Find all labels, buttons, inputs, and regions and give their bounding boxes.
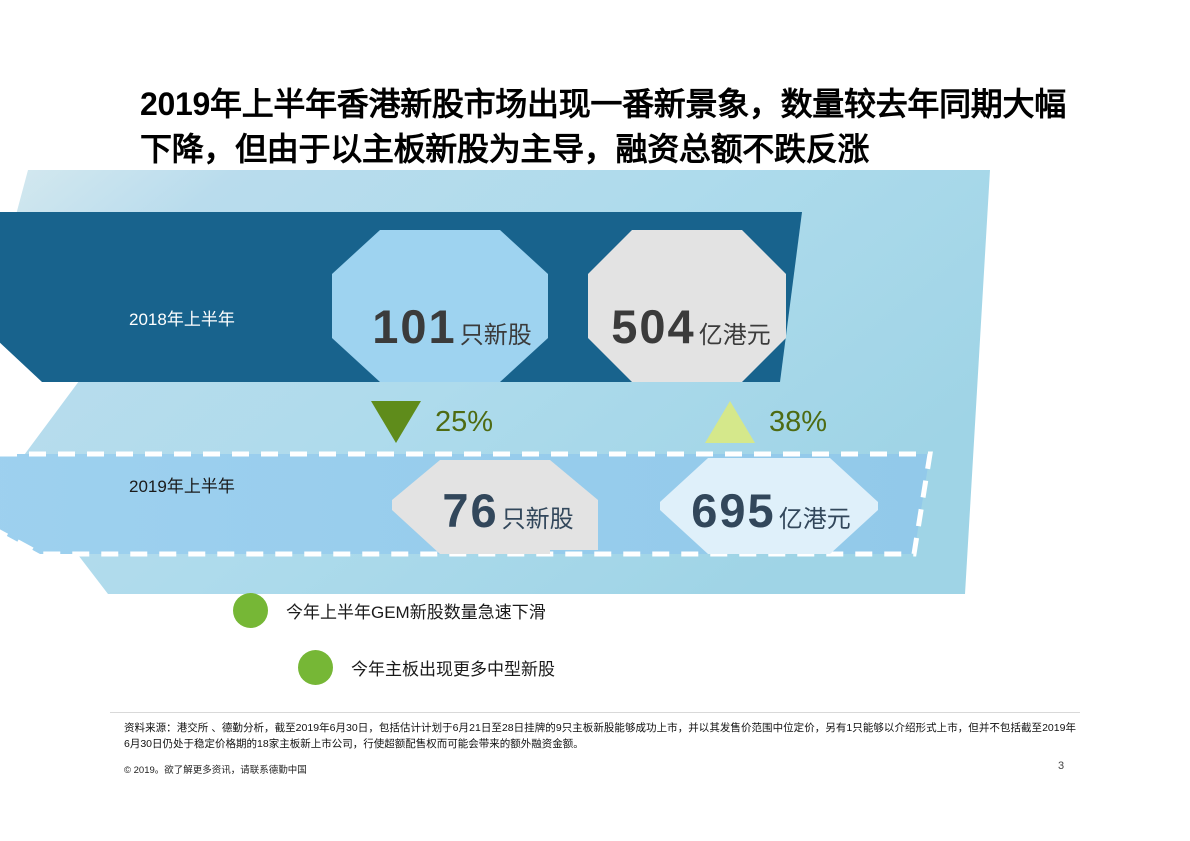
delta-ipo: 25% bbox=[371, 401, 493, 443]
metric-ipo-2019-unit: 只新股 bbox=[502, 508, 574, 532]
copyright-note: © 2019。欲了解更多资讯，请联系德勤中国 bbox=[124, 762, 307, 776]
metric-ipo-2019-value: 76 bbox=[442, 487, 498, 534]
infographic-graphics bbox=[0, 170, 1190, 610]
row-label-2019: 2019年上半年 bbox=[129, 472, 235, 497]
metric-ipo-2018-value: 101 bbox=[372, 303, 456, 350]
row-label-2018: 2018年上半年 bbox=[129, 305, 235, 330]
metric-funds-2019-unit: 亿港元 bbox=[779, 508, 851, 532]
metric-ipo-2018-unit: 只新股 bbox=[460, 324, 532, 348]
list-item-label: 今年主板出现更多中型新股 bbox=[351, 655, 555, 680]
triangle-up-icon bbox=[705, 401, 755, 443]
metric-funds-2019: 695 亿港元 bbox=[668, 487, 874, 537]
delta-ipo-pct: 25% bbox=[435, 408, 493, 437]
page-title: 2019年上半年香港新股市场出现一番新景象，数量较去年同期大幅下降，但由于以主板… bbox=[140, 82, 1080, 172]
list-item-label: 今年上半年GEM新股数量急速下滑 bbox=[286, 598, 546, 623]
bullet-dot-icon bbox=[298, 650, 333, 685]
metric-funds-2018: 504 亿港元 bbox=[598, 303, 784, 353]
triangle-down-icon bbox=[371, 401, 421, 443]
metric-funds-2018-value: 504 bbox=[611, 303, 695, 350]
metric-ipo-2019: 76 只新股 bbox=[418, 487, 598, 537]
footer-divider bbox=[110, 712, 1080, 713]
list-item: 今年上半年GEM新股数量急速下滑 bbox=[233, 593, 546, 628]
infographic-stage: 2018年上半年 2019年上半年 101 只新股 504 亿港元 76 只新股… bbox=[0, 170, 1190, 610]
page-number: 3 bbox=[1058, 760, 1064, 772]
slide: 2019年上半年香港新股市场出现一番新景象，数量较去年同期大幅下降，但由于以主板… bbox=[0, 0, 1190, 841]
metric-ipo-2018: 101 只新股 bbox=[352, 303, 552, 353]
metric-funds-2018-unit: 亿港元 bbox=[699, 324, 771, 348]
delta-funds: 38% bbox=[705, 401, 827, 443]
source-note: 资料来源：港交所 、德勤分析，截至2019年6月30日，包括估计计划于6月21日… bbox=[124, 720, 1076, 753]
metric-funds-2019-value: 695 bbox=[691, 487, 775, 534]
list-item: 今年主板出现更多中型新股 bbox=[298, 650, 555, 685]
delta-funds-pct: 38% bbox=[769, 408, 827, 437]
bullet-dot-icon bbox=[233, 593, 268, 628]
